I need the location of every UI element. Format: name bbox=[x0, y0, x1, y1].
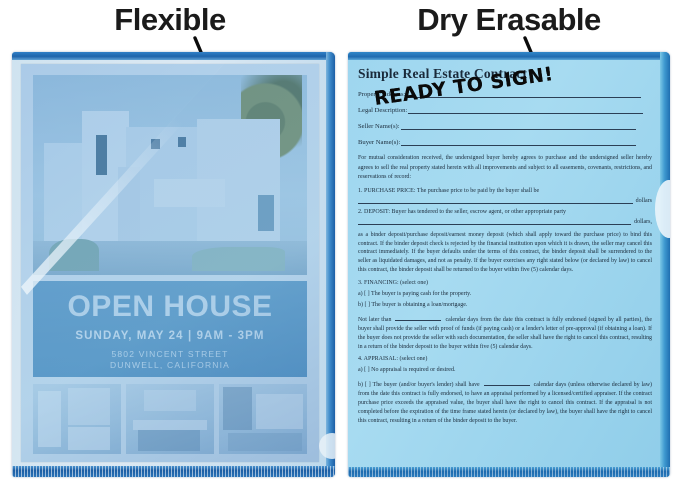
product-image: Flexible Dry Erasable bbox=[0, 0, 679, 482]
contract-section-3-option-b: b) [ ] The buyer is obtaining a loan/mor… bbox=[358, 302, 652, 308]
contract-section-3-option-a: a) [ ] The buyer is paying cash for the … bbox=[358, 291, 652, 297]
contract-section-4-option-b: b) [ ] The buyer (and/or buyer's lender)… bbox=[358, 379, 652, 425]
contract-section-1-purchase-price: 1. PURCHASE PRICE: The purchase price to… bbox=[358, 188, 652, 194]
contract-intro-paragraph: For mutual consideration received, the u… bbox=[358, 154, 652, 183]
contract-amount-line-1: dollars bbox=[358, 196, 652, 204]
left-sleeve-flexible: OPEN HOUSE SUNDAY, MAY 24 | 9AM - 3PM 58… bbox=[12, 52, 335, 477]
field-line bbox=[401, 138, 636, 146]
sleeve-right-edge bbox=[326, 52, 335, 477]
sleeve-top-edge bbox=[348, 52, 670, 60]
contract-section-2-continuation: as a binder deposit/purchase deposit/ear… bbox=[358, 231, 652, 275]
heading-dry-erasable: Dry Erasable bbox=[339, 2, 679, 38]
heading-flexible: Flexible bbox=[0, 2, 340, 38]
contract-section-4-option-a: a) [ ] No appraisal is required or desir… bbox=[358, 367, 652, 373]
contract-field-buyer-name: Buyer Name(s): bbox=[358, 138, 656, 146]
sleeve-thumb-notch-icon bbox=[655, 180, 670, 238]
fill-in-blank bbox=[484, 379, 530, 386]
sleeve-right-edge bbox=[660, 52, 670, 477]
contract-section-3-financing-heading: 3. FINANCING: (select one) bbox=[358, 280, 652, 286]
sleeve-bottom-edge bbox=[12, 466, 335, 477]
contract-amount-line-2: dollars, bbox=[358, 217, 652, 225]
contract-section-3-note: Not later than calendar days from the da… bbox=[358, 314, 652, 351]
contract-section-4-appraisal-heading: 4. APPRAISAL: (select one) bbox=[358, 356, 652, 362]
sleeve-bottom-edge bbox=[348, 467, 670, 477]
fill-in-blank bbox=[395, 314, 441, 321]
contract-section-2-deposit: 2. DEPOSIT: Buyer has tendered to the se… bbox=[358, 209, 652, 215]
sleeve-corner-notch-icon bbox=[319, 433, 335, 459]
sleeve-top-edge bbox=[12, 52, 335, 60]
